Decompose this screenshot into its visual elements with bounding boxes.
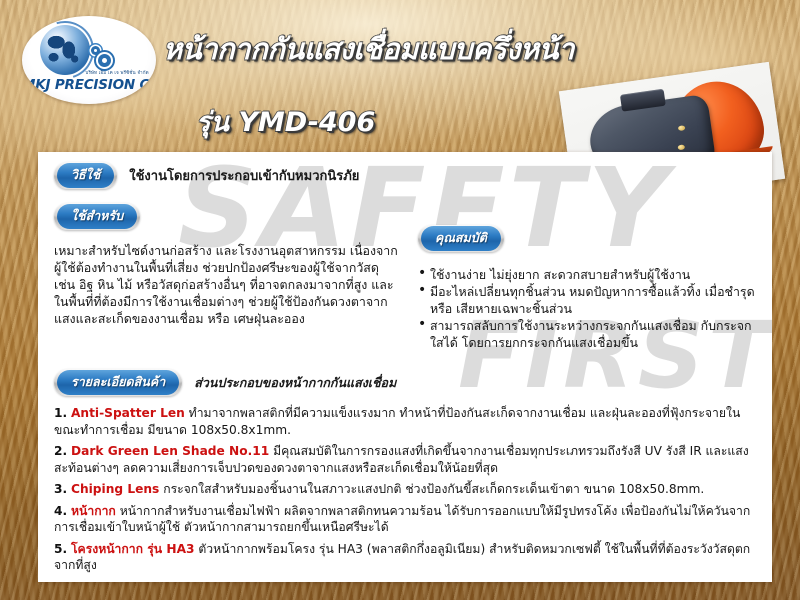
badge-usedfor: ใช้สำหรับ xyxy=(54,203,140,230)
list-item: 3. Chiping Lens กระจกใสสำหรับมองชิ้นงานใ… xyxy=(54,481,756,498)
list-item: สามารถสลับการใช้งานระหว่างกระจกกันแสงเชื… xyxy=(418,317,756,351)
photo-clearance-spacer xyxy=(418,203,756,225)
badge-features-label: คุณสมบัติ xyxy=(421,226,501,251)
detail-number: 4. xyxy=(54,504,67,518)
detail-term: Anti-Spatter Len xyxy=(71,406,185,420)
model-subtitle: รุ่น YMD-406 xyxy=(196,100,375,143)
detail-term: หน้ากาก xyxy=(71,504,116,518)
badge-howto: วิธีใช้ xyxy=(54,162,117,189)
section-features: คุณสมบัติ xyxy=(418,225,756,252)
gear-icon-small xyxy=(91,46,100,55)
list-item: 1. Anti-Spatter Len ทำมาจากพลาสติกที่มีค… xyxy=(54,405,756,438)
logo-brand-text: MKJ PRECISION CO.,LTD. xyxy=(22,77,156,93)
list-item: 5. โครงหน้ากาก รุ่น HA3 ตัวหน้ากากพร้อมโ… xyxy=(54,541,756,574)
detail-text: หน้ากากสำหรับงานเชื่อมไฟฟ้า ผลิตจากพลาสต… xyxy=(54,504,750,535)
detail-term: Chiping Lens xyxy=(71,482,159,496)
detail-text: กระจกใสสำหรับมองชิ้นงานในสภาวะแสงปกติ ช่… xyxy=(163,482,704,496)
list-item: 2. Dark Green Len Shade No.11 มีคุณสมบัต… xyxy=(54,443,756,476)
page-title: หน้ากากกันแสงเชื่อมแบบครึ่งหน้า xyxy=(163,26,574,72)
details-caption: ส่วนประกอบของหน้ากากกันแสงเชื่อม xyxy=(194,373,396,393)
logo-thai-subtext: บริษัท เอ็ม เค เจ พรีซิชั่น จำกัด xyxy=(84,70,150,77)
column-features: คุณสมบัติ ใช้งานง่าย ไม่ยุ่งยาก สะดวกสบา… xyxy=(410,203,756,351)
section-details: รายละเอียดสินค้า ส่วนประกอบของหน้ากากกัน… xyxy=(54,369,756,396)
badge-features: คุณสมบัติ xyxy=(418,225,504,252)
column-used-for: ใช้สำหรับ เหมาะสำหรับไซด์งานก่อสร้าง และ… xyxy=(54,203,410,351)
badge-details: รายละเอียดสินค้า xyxy=(54,369,182,396)
usedfor-paragraph: เหมาะสำหรับไซด์งานก่อสร้าง และโรงงานอุตส… xyxy=(54,242,400,327)
howto-caption: ใช้งานโดยการประกอบเข้ากับหมวกนิรภัย xyxy=(129,165,359,186)
badge-usedfor-label: ใช้สำหรับ xyxy=(57,204,137,229)
list-item: ใช้งานง่าย ไม่ยุ่งยาก สะดวกสบายสำหรับผู้… xyxy=(418,266,756,283)
detail-number: 2. xyxy=(54,444,67,458)
company-logo: บริษัท เอ็ม เค เจ พรีซิชั่น จำกัด MKJ PR… xyxy=(22,16,156,104)
two-column-area: ใช้สำหรับ เหมาะสำหรับไซด์งานก่อสร้าง และ… xyxy=(54,203,756,351)
detail-number: 3. xyxy=(54,482,67,496)
detail-term: โครงหน้ากาก รุ่น HA3 xyxy=(71,542,194,556)
detail-number: 1. xyxy=(54,406,67,420)
badge-details-label: รายละเอียดสินค้า xyxy=(57,370,179,395)
detail-list: 1. Anti-Spatter Len ทำมาจากพลาสติกที่มีค… xyxy=(54,405,756,574)
section-usedfor: ใช้สำหรับ xyxy=(54,203,400,230)
detail-number: 5. xyxy=(54,542,67,556)
detail-term: Dark Green Len Shade No.11 xyxy=(71,444,269,458)
gear-icon-large xyxy=(98,54,111,67)
list-item: 4. หน้ากาก หน้ากากสำหรับงานเชื่อมไฟฟ้า ผ… xyxy=(54,503,756,536)
list-item: มีอะไหล่เปลี่ยนทุกชิ้นส่วน หมดปัญหาการซื… xyxy=(418,283,756,317)
feature-list: ใช้งานง่าย ไม่ยุ่งยาก สะดวกสบายสำหรับผู้… xyxy=(418,266,756,351)
content-panel: SAFETY FIRST วิธีใช้ ใช้งานโดยการประกอบเ… xyxy=(38,152,772,582)
flyer-page: บริษัท เอ็ม เค เจ พรีซิชั่น จำกัด MKJ PR… xyxy=(0,0,800,600)
badge-howto-label: วิธีใช้ xyxy=(57,163,114,188)
section-howto: วิธีใช้ ใช้งานโดยการประกอบเข้ากับหมวกนิร… xyxy=(54,162,756,189)
